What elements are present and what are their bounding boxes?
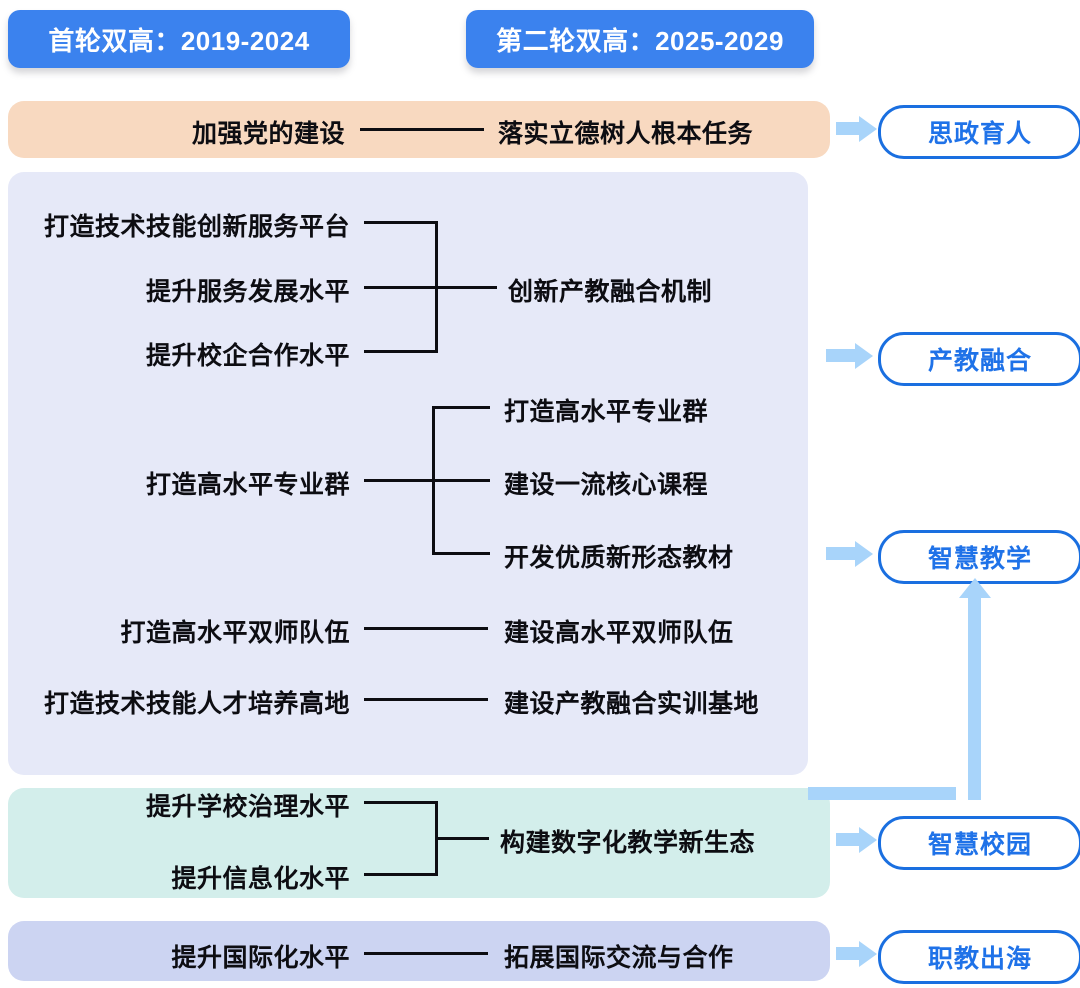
round-header-first-label: 首轮双高：2019-2024 bbox=[48, 21, 309, 58]
connector-campus-out bbox=[435, 837, 489, 840]
pill-ideology[interactable]: 思政育人 bbox=[878, 105, 1080, 159]
left-item-industry-0-label: 打造技术技能创新服务平台 bbox=[44, 207, 350, 243]
arrow-to-industry-pill bbox=[826, 349, 856, 362]
connector-majors-stub-1 bbox=[432, 479, 490, 482]
connector-majors-stub-2 bbox=[432, 552, 490, 555]
elbow-horizontal-campus-to-teaching bbox=[808, 787, 956, 800]
arrow-to-international-pill bbox=[836, 947, 860, 960]
left-item-campus-1-label: 提升信息化水平 bbox=[171, 859, 350, 895]
connector-industry-stub-2 bbox=[364, 350, 438, 353]
right-item-majors-1-label: 建设一流核心课程 bbox=[504, 465, 708, 501]
left-item-talent-0-label: 打造技术技能人才培养高地 bbox=[44, 684, 350, 720]
right-item-majors-0-label: 打造高水平专业群 bbox=[504, 392, 708, 428]
elbow-arrowhead-campus-to-teaching bbox=[959, 578, 991, 598]
pill-smart-teaching[interactable]: 智慧教学 bbox=[878, 530, 1080, 584]
pill-smart-teaching-label: 智慧教学 bbox=[928, 539, 1032, 575]
right-item-international-0-label: 拓展国际交流与合作 bbox=[504, 938, 734, 974]
pill-ideology-label: 思政育人 bbox=[928, 114, 1032, 150]
connector-international bbox=[364, 952, 488, 955]
connector-industry-stub-1 bbox=[364, 286, 438, 289]
left-item-majors-0-label: 打造高水平专业群 bbox=[146, 465, 350, 501]
round-header-second: 第二轮双高：2025-2029 bbox=[466, 10, 814, 68]
arrow-to-smart-campus-pill bbox=[836, 833, 860, 846]
connector-talent bbox=[364, 698, 488, 701]
connector-industry-out bbox=[435, 286, 497, 289]
connector-teachers bbox=[364, 627, 488, 630]
pill-industry-education-label: 产教融合 bbox=[928, 341, 1032, 377]
arrow-to-smart-teaching-pill bbox=[826, 547, 856, 560]
pill-smart-campus[interactable]: 智慧校园 bbox=[878, 816, 1080, 870]
right-item-ideology-0-label: 落实立德树人根本任务 bbox=[498, 114, 753, 150]
diagram-canvas: 首轮双高：2019-2024 第二轮双高：2025-2029 加强党的建设 落实… bbox=[0, 0, 1080, 988]
elbow-vertical-campus-to-teaching bbox=[968, 597, 981, 800]
arrow-to-ideology-pill bbox=[836, 122, 860, 135]
connector-majors-stub-0 bbox=[432, 406, 490, 409]
right-item-majors-2-label: 开发优质新形态教材 bbox=[504, 538, 734, 574]
pill-international[interactable]: 职教出海 bbox=[878, 930, 1080, 984]
pill-international-label: 职教出海 bbox=[928, 939, 1032, 975]
pill-smart-campus-label: 智慧校园 bbox=[928, 825, 1032, 861]
right-item-talent-0-label: 建设产教融合实训基地 bbox=[504, 684, 759, 720]
left-item-teachers-0-label: 打造高水平双师队伍 bbox=[120, 613, 350, 649]
connector-campus-stub-0 bbox=[364, 801, 438, 804]
right-item-campus-0-label: 构建数字化教学新生态 bbox=[500, 823, 755, 859]
connector-ideology bbox=[360, 128, 484, 131]
right-item-industry-0-label: 创新产教融合机制 bbox=[508, 272, 712, 308]
connector-industry-stub-0 bbox=[364, 221, 438, 224]
round-header-first: 首轮双高：2019-2024 bbox=[8, 10, 350, 68]
left-item-campus-0-label: 提升学校治理水平 bbox=[146, 787, 350, 823]
pill-industry-education[interactable]: 产教融合 bbox=[878, 332, 1080, 386]
left-item-industry-2-label: 提升校企合作水平 bbox=[146, 336, 350, 372]
left-item-industry-1-label: 提升服务发展水平 bbox=[146, 272, 350, 308]
round-header-second-label: 第二轮双高：2025-2029 bbox=[496, 21, 784, 58]
right-item-teachers-0-label: 建设高水平双师队伍 bbox=[504, 613, 734, 649]
left-item-international-0-label: 提升国际化水平 bbox=[171, 938, 350, 974]
connector-campus-stub-1 bbox=[364, 873, 438, 876]
left-item-ideology-0-label: 加强党的建设 bbox=[192, 114, 345, 150]
